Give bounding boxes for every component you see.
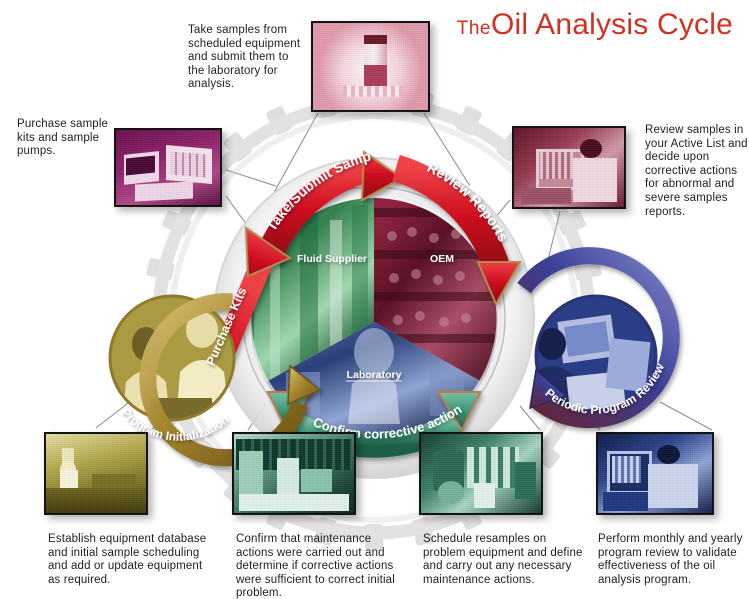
photo-grain: [234, 434, 354, 513]
sample-kits-photo: [114, 128, 222, 207]
sample-bottle-photo: [311, 21, 430, 112]
photo-grain: [46, 434, 146, 513]
engine-maintenance-photo: [419, 432, 543, 515]
infographic-canvas: TheOil Analysis Cycle: [0, 0, 749, 599]
photo-grain: [421, 434, 541, 513]
caption-confirm-maintenance: Confirm that maintenance actions were ca…: [236, 533, 408, 599]
office-review-photo: [232, 432, 356, 515]
photo-grain: [313, 23, 428, 110]
program-review-photo: [596, 432, 714, 515]
field-survey-photo: [44, 432, 148, 515]
caption-establish-equipment: Establish equipment database and initial…: [48, 533, 208, 587]
caption-take-samples: Take samples from scheduled equipment an…: [188, 24, 306, 92]
caption-review-samples: Review samples in your Active List and d…: [645, 124, 749, 219]
analyst-at-computer-photo: [512, 126, 626, 209]
laboratory-label: Laboratory: [347, 369, 402, 381]
photo-grain: [598, 434, 712, 513]
caption-schedule-resamples: Schedule resamples on problem equipment …: [423, 533, 585, 587]
caption-perform-review: Perform monthly and yearly program revie…: [598, 533, 748, 587]
fluid-supplier-label: Fluid Supplier: [297, 253, 367, 265]
caption-purchase-kits: Purchase sample kits and sample pumps.: [17, 118, 117, 159]
photo-grain: [514, 128, 624, 207]
oem-label: OEM: [430, 253, 454, 265]
photo-grain: [116, 130, 220, 205]
